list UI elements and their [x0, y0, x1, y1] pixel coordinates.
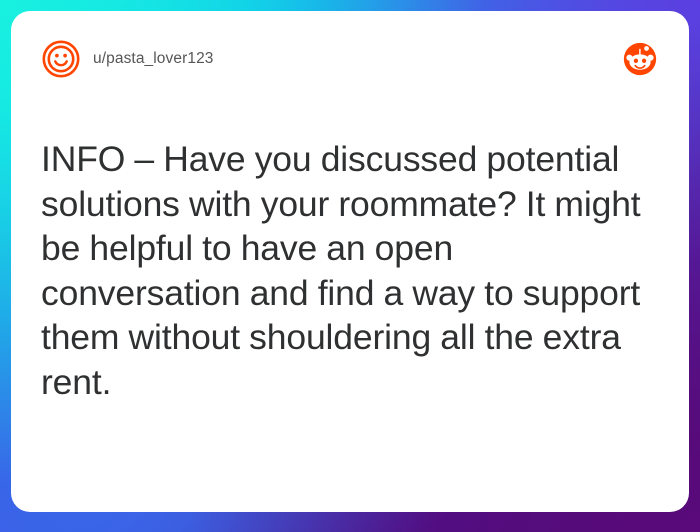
post-body-text: INFO – Have you discussed potential solu… [41, 137, 659, 404]
smiley-face-avatar-icon[interactable] [41, 39, 81, 79]
post-header: u/pasta_lover123 [41, 37, 659, 81]
reddit-snoo-icon[interactable] [621, 40, 659, 78]
reddit-post-card: u/pasta_lover123 INFO – Have you discuss… [11, 11, 689, 512]
author-block[interactable]: u/pasta_lover123 [41, 39, 214, 79]
screenshot-root: u/pasta_lover123 INFO – Have you discuss… [0, 0, 700, 532]
author-username[interactable]: u/pasta_lover123 [93, 50, 214, 68]
